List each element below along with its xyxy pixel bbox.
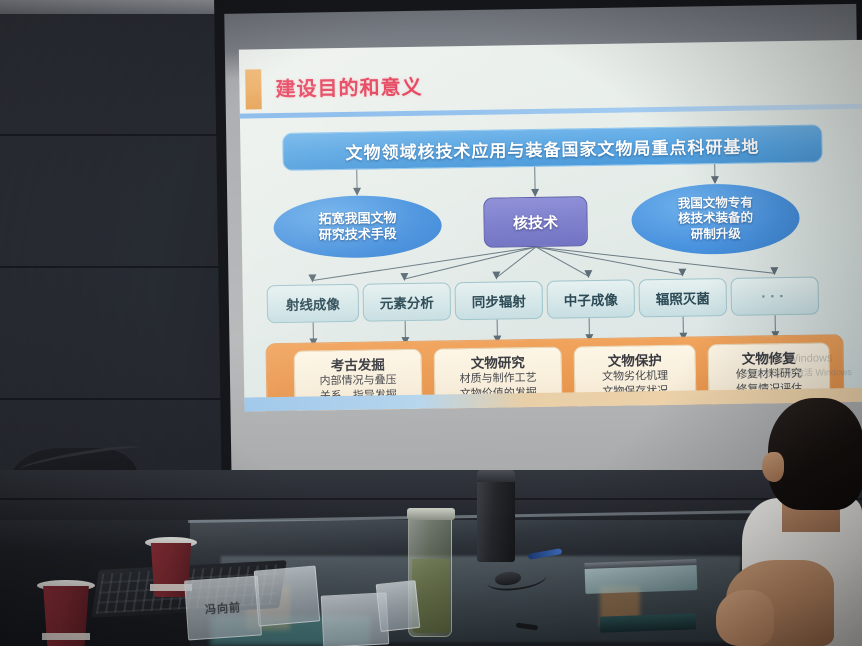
application-heading-1: 文物研究 [471, 355, 525, 372]
application-line-1-1: 材质与制作工艺 [459, 371, 536, 387]
nameplate-0: 冯向前 [184, 575, 262, 640]
application-line-2-1: 文物劣化机理 [602, 369, 668, 385]
technique-box-more: ··· [730, 277, 819, 316]
slide-title: 建设目的和意义 [275, 71, 422, 102]
nameplate-1 [254, 565, 321, 626]
technique-box-1: 元素分析 [363, 282, 452, 321]
lower-wall-seam [0, 498, 862, 500]
technique-label-4: 辐照灭菌 [656, 287, 710, 308]
technique-label-2: 同步辐射 [472, 290, 526, 311]
center-node-label: 核技术 [513, 211, 558, 233]
technique-box-0: 射线成像 [267, 284, 360, 323]
goal-left-line-1: 拓宽我国文物 [318, 210, 396, 227]
meeting-room: 建设目的和意义 文物领域核技术应用与装备国家文物局重点科研基地 [0, 0, 862, 646]
coffee-cup-left[interactable] [40, 586, 92, 646]
center-node-nuclear-tech: 核技术 [483, 196, 588, 248]
windows-activation-watermark: 激活 Windows 转到"设置"以激活 Windows [743, 351, 852, 380]
technique-label-3: 中子成像 [564, 289, 618, 310]
application-heading-2: 文物保护 [608, 353, 662, 370]
projection-screen: 建设目的和意义 文物领域核技术应用与装备国家文物局重点科研基地 [214, 0, 862, 502]
wall-seam [0, 134, 236, 136]
technique-box-3: 中子成像 [547, 279, 636, 318]
left-wall [0, 14, 236, 494]
document-tray[interactable] [585, 564, 698, 594]
banner-label: 文物领域核技术应用与装备国家文物局重点科研基地 [345, 132, 759, 163]
goal-node-right: 我国文物专有 核技术装备的 研制升级 [631, 183, 800, 256]
attendee-ear [762, 452, 784, 482]
goal-right-line-1: 我国文物专有 [678, 195, 753, 212]
watermark-line-2: 转到"设置"以激活 Windows [743, 366, 852, 380]
attendee-head [768, 398, 862, 510]
tea-jar-lid [407, 508, 455, 520]
goal-node-left: 拓宽我国文物 研究技术手段 [273, 194, 442, 259]
slide-banner: 文物领域核技术应用与装备国家文物局重点科研基地 [282, 124, 823, 170]
presentation-slide: 建设目的和意义 文物领域核技术应用与装备国家文物局重点科研基地 [239, 40, 862, 412]
technique-label-more: ··· [761, 288, 788, 305]
goal-right-line-2: 核技术装备的 [678, 211, 753, 228]
application-line-0-1: 内部情况与叠压 [319, 373, 396, 389]
attendee-hand [716, 590, 774, 646]
nameplate-3 [376, 580, 421, 632]
screen-surface: 建设目的和意义 文物领域核技术应用与装备国家文物局重点科研基地 [224, 4, 862, 484]
notebook[interactable] [600, 613, 696, 632]
thermos-cap [477, 470, 515, 482]
wall-seam [0, 266, 236, 268]
nameplate-text-0: 冯向前 [204, 599, 241, 617]
wall-seam [0, 398, 236, 400]
technique-label-0: 射线成像 [286, 293, 340, 314]
goal-right-line-3: 研制升级 [691, 227, 741, 243]
watermark-line-1: 激活 Windows [743, 351, 852, 368]
application-heading-0: 考古发掘 [331, 357, 385, 374]
slide-title-row: 建设目的和意义 [239, 60, 862, 110]
cup-band [42, 633, 90, 640]
technique-box-4: 辐照灭菌 [639, 278, 728, 317]
title-accent-bar [245, 69, 262, 109]
goal-left-line-2: 研究技术手段 [319, 226, 397, 243]
technique-label-1: 元素分析 [380, 292, 434, 313]
technique-box-2: 同步辐射 [455, 281, 544, 320]
thermos-bottle[interactable] [477, 470, 515, 562]
